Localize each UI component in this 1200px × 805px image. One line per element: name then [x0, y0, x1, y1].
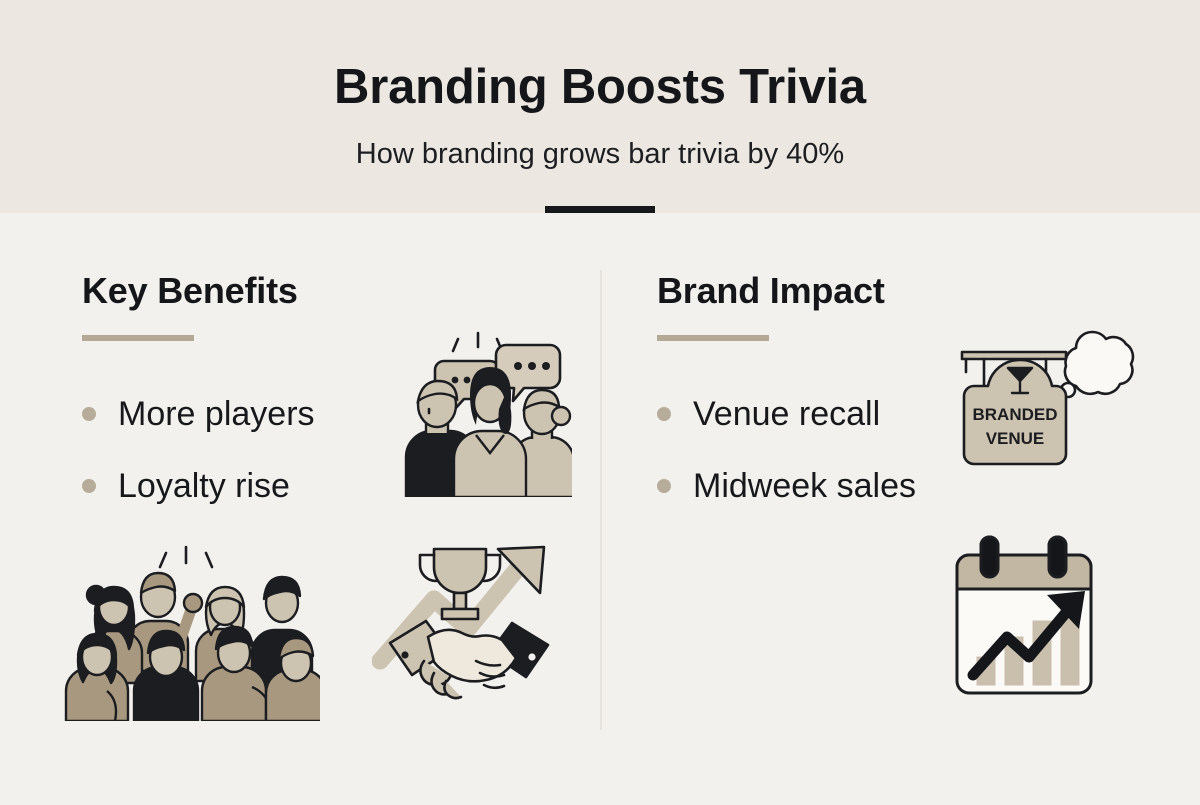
heading-underline-left	[82, 335, 194, 341]
column-brand-impact: Brand Impact Venue recall Midweek sales	[600, 213, 1200, 805]
header-band: Branding Boosts Trivia How branding grow…	[0, 0, 1200, 213]
bullet-list-brand-impact: Venue recall Midweek sales	[657, 378, 916, 522]
list-item: Loyalty rise	[82, 450, 315, 522]
bullet-dot-icon	[657, 479, 671, 493]
bullet-label: Venue recall	[693, 397, 880, 431]
list-item: Midweek sales	[657, 450, 916, 522]
column-heading-brand-impact: Brand Impact	[657, 273, 885, 309]
bullet-dot-icon	[82, 407, 96, 421]
people-talking-illustration	[392, 317, 572, 497]
bullet-list-key-benefits: More players Loyalty rise	[82, 378, 315, 522]
bullet-dot-icon	[82, 479, 96, 493]
heading-underline-right	[657, 335, 769, 341]
sign-line-2: VENUE	[986, 429, 1045, 448]
list-item: Venue recall	[657, 378, 916, 450]
column-key-benefits: Key Benefits More players Loyalty rise	[0, 213, 600, 805]
content-board: Key Benefits More players Loyalty rise	[0, 213, 1200, 805]
sign-line-1: BRANDED	[973, 405, 1058, 424]
cheering-crowd-illustration	[62, 541, 320, 721]
page-subtitle: How branding grows bar trivia by 40%	[0, 140, 1200, 169]
bullet-label: More players	[118, 397, 315, 431]
calendar-growth-chart-illustration	[945, 533, 1105, 703]
page-title: Branding Boosts Trivia	[0, 63, 1200, 112]
column-heading-key-benefits: Key Benefits	[82, 273, 298, 309]
handshake-trophy-growth-illustration	[372, 533, 562, 708]
list-item: More players	[82, 378, 315, 450]
bullet-label: Loyalty rise	[118, 469, 290, 503]
bullet-label: Midweek sales	[693, 469, 916, 503]
branded-venue-sign-illustration: BRANDED VENUE	[958, 308, 1143, 468]
bullet-dot-icon	[657, 407, 671, 421]
